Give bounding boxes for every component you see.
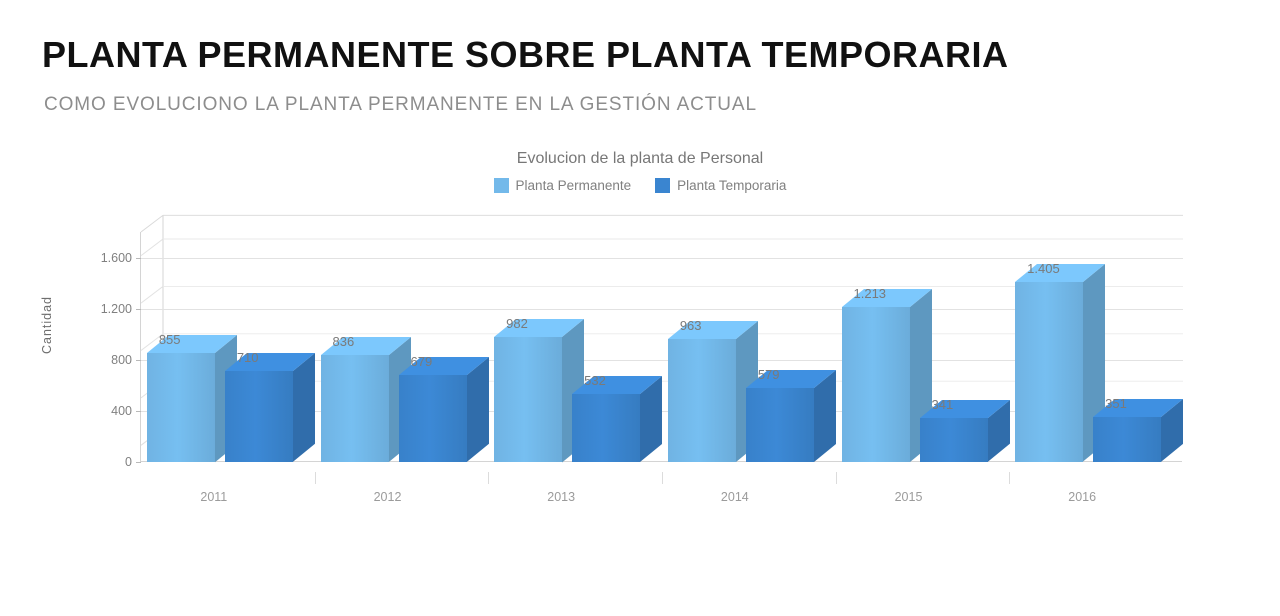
bar-front-face bbox=[147, 353, 215, 462]
bar-value-label: 351 bbox=[1105, 396, 1127, 411]
x-axis-divider bbox=[662, 472, 663, 484]
chart-container: Evolucion de la planta de Personal Plant… bbox=[0, 140, 1280, 500]
chart-page: PLANTA PERMANENTE SOBRE PLANTA TEMPORARI… bbox=[0, 0, 1280, 616]
gridline bbox=[141, 258, 1183, 259]
y-tick-label: 400 bbox=[12, 404, 132, 418]
bar-front-face bbox=[920, 418, 988, 462]
x-tick-label: 2011 bbox=[200, 490, 227, 504]
chart-title: Evolucion de la planta de Personal bbox=[0, 150, 1280, 168]
bar-front-face bbox=[225, 371, 293, 462]
bar-value-label: 1.213 bbox=[854, 286, 887, 301]
legend-item-planta-temporaria[interactable]: Planta Temporaria bbox=[655, 178, 786, 193]
y-tick-mark bbox=[136, 309, 141, 310]
y-tick-label: 0 bbox=[12, 455, 132, 469]
bar-2011-permanente[interactable] bbox=[147, 353, 215, 462]
bar-2012-temporaria[interactable] bbox=[399, 375, 467, 462]
y-tick-mark bbox=[136, 462, 141, 463]
bar-front-face bbox=[399, 375, 467, 462]
bar-front-face bbox=[321, 355, 389, 462]
y-tick-label: 800 bbox=[12, 353, 132, 367]
x-axis-divider bbox=[836, 472, 837, 484]
bar-2015-temporaria[interactable] bbox=[920, 418, 988, 462]
axis-box: 04008001.2001.600 2011201220132014201520… bbox=[140, 232, 1182, 462]
bar-value-label: 679 bbox=[411, 354, 433, 369]
x-tick-label: 2012 bbox=[374, 490, 402, 504]
bar-front-face bbox=[746, 388, 814, 462]
y-tick-label: 1.600 bbox=[12, 251, 132, 265]
page-subtitle: COMO EVOLUCIONO LA PLANTA PERMANENTE EN … bbox=[44, 94, 757, 116]
bar-2012-permanente[interactable] bbox=[321, 355, 389, 462]
y-tick-mark bbox=[136, 360, 141, 361]
bar-2013-permanente[interactable] bbox=[494, 337, 562, 462]
x-tick-label: 2014 bbox=[721, 490, 749, 504]
bar-2014-temporaria[interactable] bbox=[746, 388, 814, 462]
bar-2016-temporaria[interactable] bbox=[1093, 417, 1161, 462]
legend-swatch-temporaria bbox=[655, 178, 670, 193]
bar-2016-permanente[interactable] bbox=[1015, 282, 1083, 462]
bar-front-face bbox=[1093, 417, 1161, 462]
x-tick-label: 2015 bbox=[895, 490, 923, 504]
bar-front-face bbox=[668, 339, 736, 462]
bar-value-label: 1.405 bbox=[1027, 261, 1060, 276]
bar-value-label: 341 bbox=[932, 397, 954, 412]
legend-label-temporaria: Planta Temporaria bbox=[677, 178, 786, 193]
x-tick-label: 2013 bbox=[547, 490, 575, 504]
bar-value-label: 855 bbox=[159, 332, 181, 347]
x-tick-label: 2016 bbox=[1068, 490, 1096, 504]
bar-value-label: 963 bbox=[680, 318, 702, 333]
legend-swatch-permanente bbox=[494, 178, 509, 193]
chart-legend: Planta Permanente Planta Temporaria bbox=[0, 178, 1280, 193]
x-axis-divider bbox=[315, 472, 316, 484]
bar-front-face bbox=[572, 394, 640, 462]
bar-front-face bbox=[842, 307, 910, 462]
y-tick-mark bbox=[136, 258, 141, 259]
y-tick-mark bbox=[136, 411, 141, 412]
bar-front-face bbox=[1015, 282, 1083, 462]
page-title: PLANTA PERMANENTE SOBRE PLANTA TEMPORARI… bbox=[42, 34, 1009, 76]
legend-item-planta-permanente[interactable]: Planta Permanente bbox=[494, 178, 632, 193]
bar-value-label: 982 bbox=[506, 316, 528, 331]
legend-label-permanente: Planta Permanente bbox=[516, 178, 632, 193]
bar-value-label: 710 bbox=[237, 350, 259, 365]
bar-front-face bbox=[494, 337, 562, 462]
bar-value-label: 836 bbox=[333, 334, 355, 349]
bar-2015-permanente[interactable] bbox=[842, 307, 910, 462]
x-axis-divider bbox=[1009, 472, 1010, 484]
y-tick-label: 1.200 bbox=[12, 302, 132, 316]
bar-value-label: 532 bbox=[584, 373, 606, 388]
bar-value-label: 579 bbox=[758, 367, 780, 382]
x-axis-divider bbox=[488, 472, 489, 484]
bar-2011-temporaria[interactable] bbox=[225, 371, 293, 462]
plot-area: Cantidad 04008001.2001.600 2011201220132… bbox=[140, 214, 1200, 588]
bar-2014-permanente[interactable] bbox=[668, 339, 736, 462]
bar-2013-temporaria[interactable] bbox=[572, 394, 640, 462]
